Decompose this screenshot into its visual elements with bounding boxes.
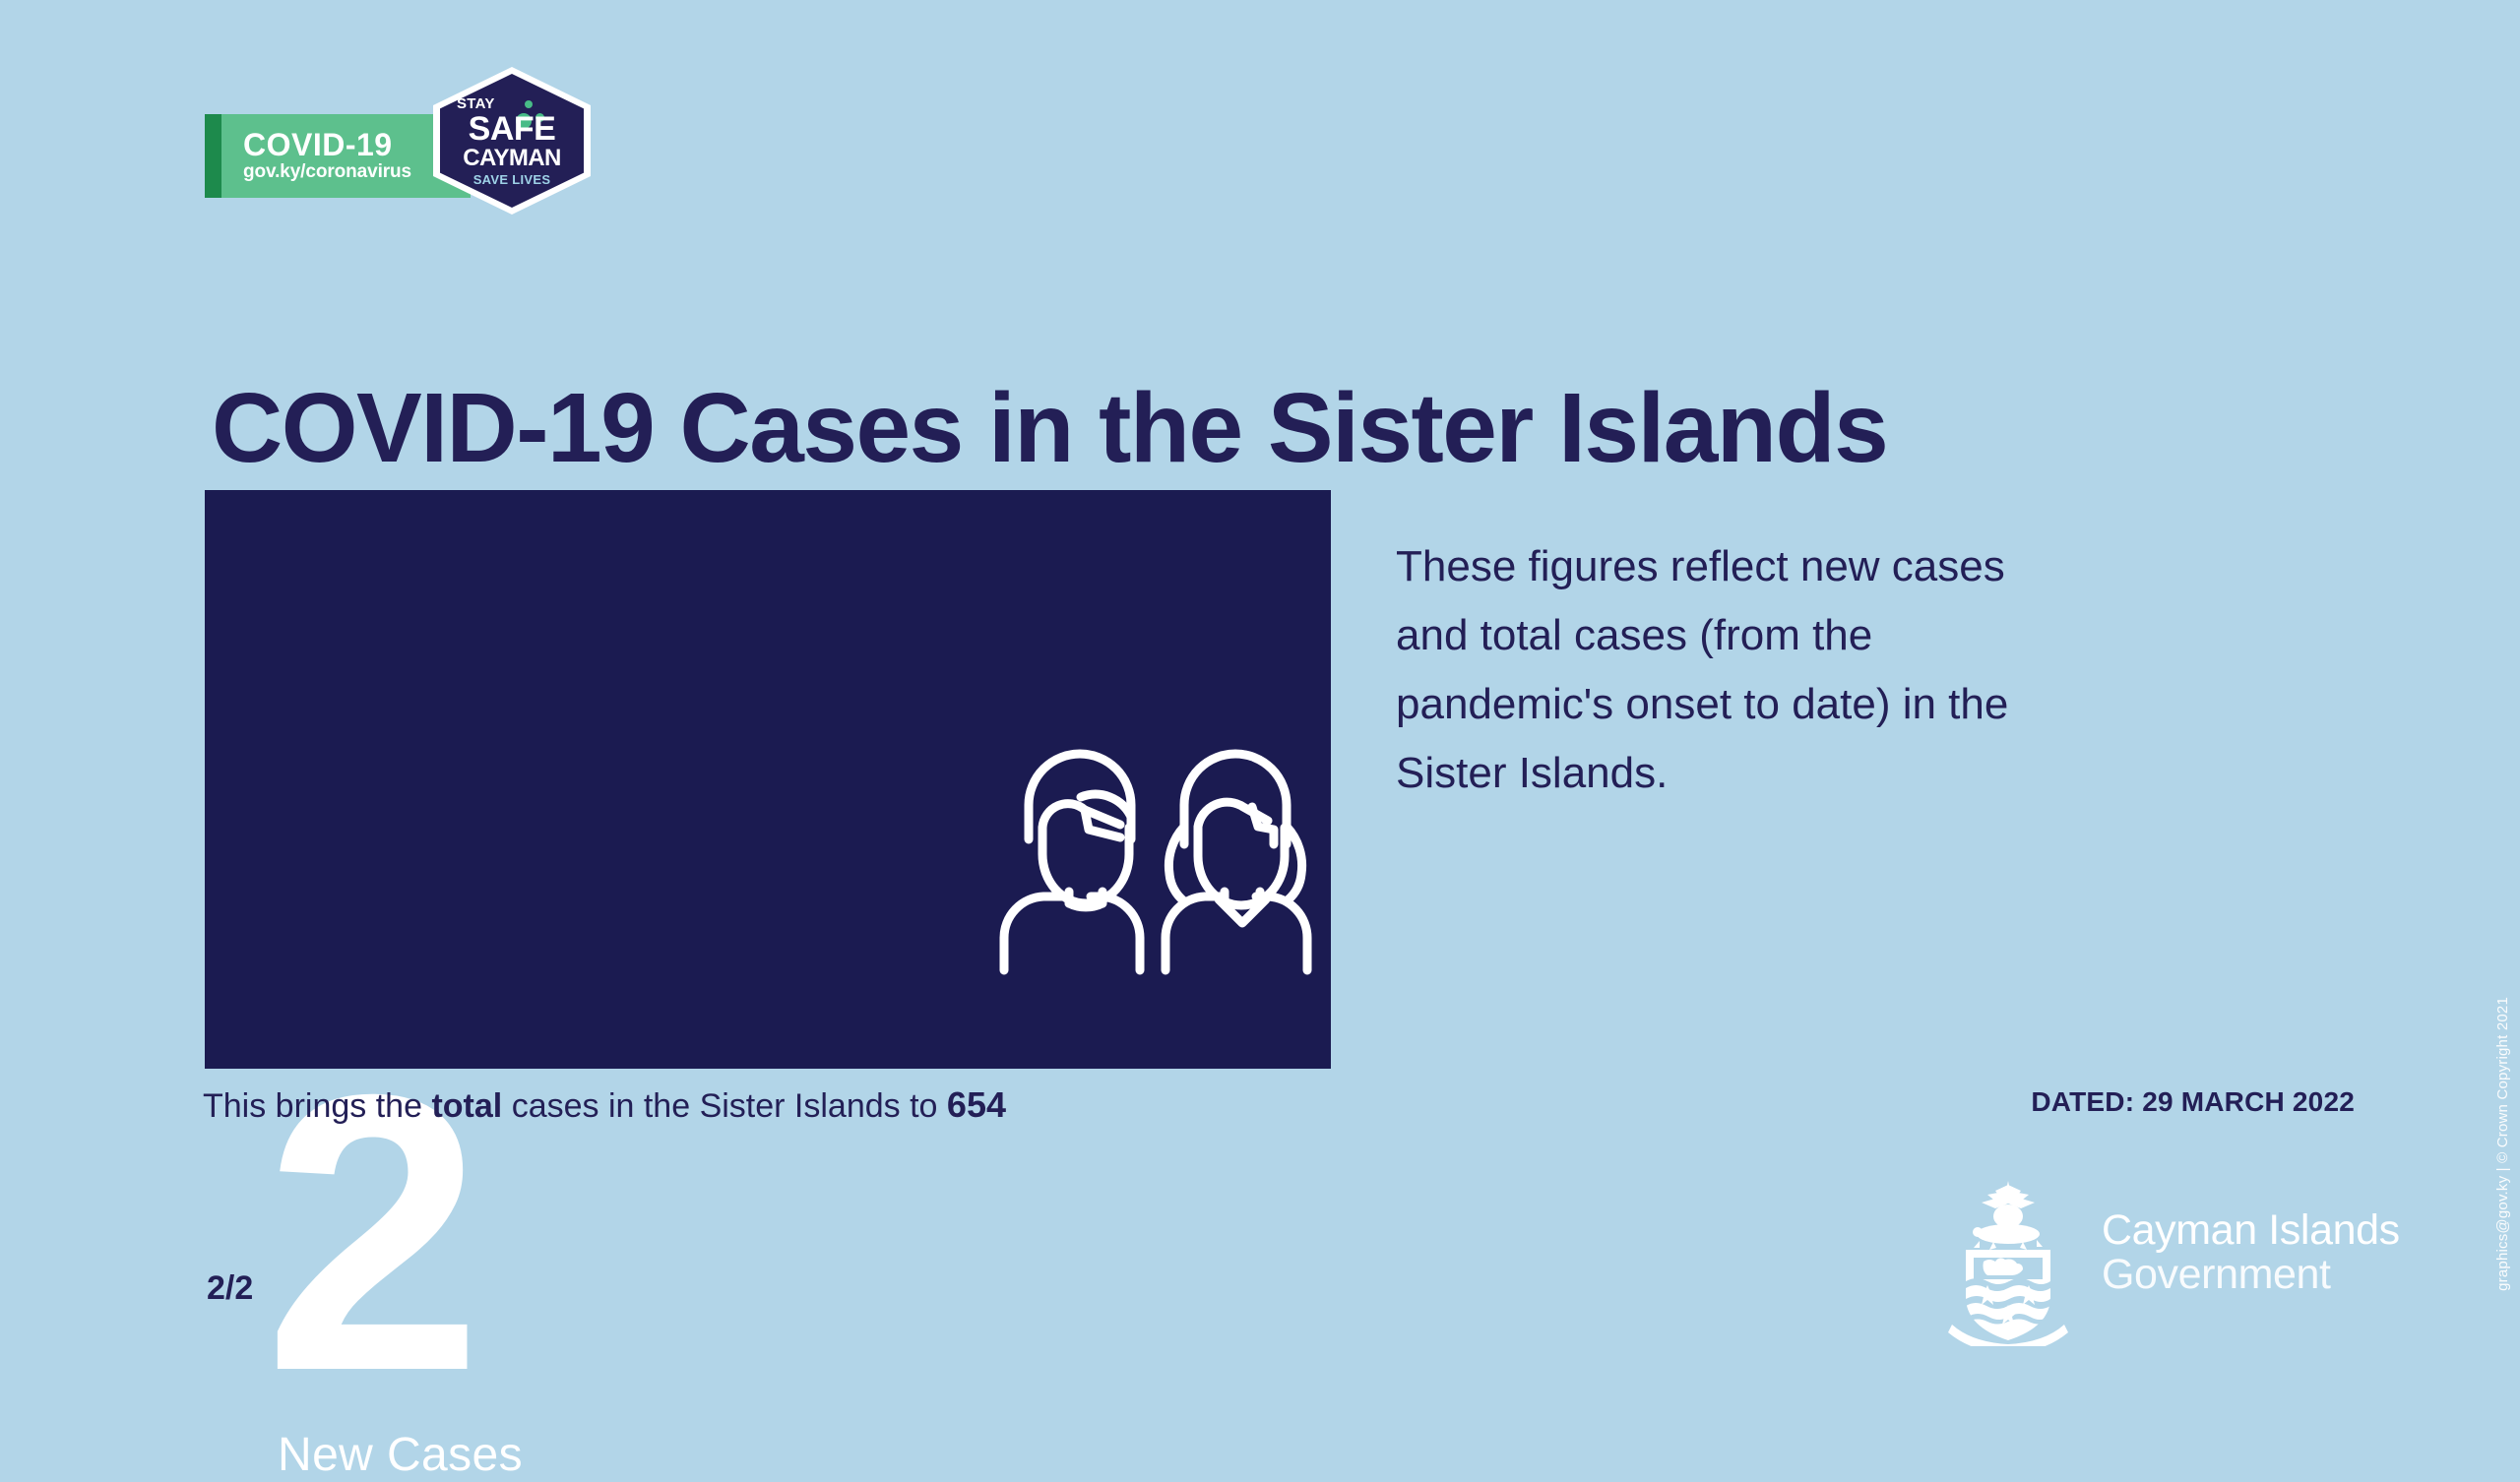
gov-logo-line-1: Cayman Islands <box>2102 1208 2400 1253</box>
dated-label: DATED: 29 MARCH 2022 <box>2031 1086 2355 1118</box>
gov-logo-line-2: Government <box>2102 1253 2400 1297</box>
total-cases-value: 654 <box>947 1084 1006 1125</box>
government-wordmark: Cayman Islands Government <box>2102 1208 2400 1296</box>
cayman-islands-government-logo: Cayman Islands Government <box>1944 1179 2417 1346</box>
stay-safe-cayman-hexagon-badge: STAY SAFE CAYMAN SAVE LIVES <box>433 67 591 215</box>
total-line-middle: cases in the Sister Islands to <box>512 1087 938 1125</box>
total-line-emphasis: total <box>431 1087 502 1125</box>
description-text: These figures reflect new cases and tota… <box>1396 532 2046 808</box>
badge-stay-label: STAY <box>457 96 495 111</box>
badge-text-block: STAY SAFE CAYMAN SAVE LIVES <box>433 67 591 215</box>
badge-save-lives-label: SAVE LIVES <box>473 173 551 186</box>
cayman-coat-of-arms-icon <box>1944 1179 2072 1346</box>
total-cases-line: This brings the total cases in the Siste… <box>203 1084 1006 1126</box>
new-cases-label: New Cases <box>278 1428 523 1482</box>
page-title: COVID-19 Cases in the Sister Islands <box>212 372 1887 485</box>
badge-cayman-label: CAYMAN <box>463 147 561 170</box>
badge-safe-label: SAFE <box>469 112 556 146</box>
page-number: 2/2 <box>207 1269 253 1308</box>
two-people-icon <box>982 736 1347 992</box>
banner-accent-stripe <box>205 114 221 198</box>
copyright-credit: graphics@gov.ky | © Crown Copyright 2021 <box>2494 997 2511 1291</box>
total-line-prefix: This brings the <box>203 1087 422 1125</box>
covid-19-banner: COVID-19 gov.ky/coronavirus <box>205 114 471 198</box>
covid-stay-safe-logo-lockup: COVID-19 gov.ky/coronavirus STAY SAFE CA… <box>205 67 618 215</box>
new-cases-stat-card: 2 New Cases <box>205 490 1331 1069</box>
